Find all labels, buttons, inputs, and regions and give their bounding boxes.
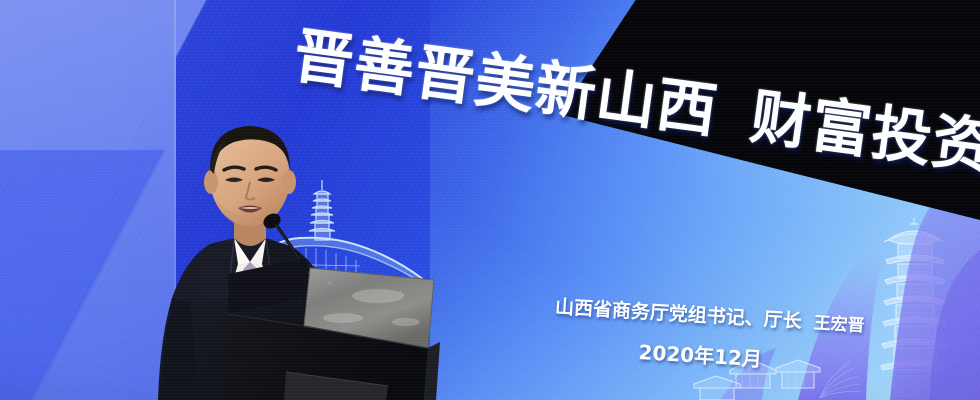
buildings-bottom-icon <box>690 352 870 400</box>
led-scanlines <box>0 0 980 400</box>
dark-ceiling-area <box>560 0 980 220</box>
subtitle-date: 2020年12月 <box>638 336 953 384</box>
subtitle-speaker-name: 王宏晋 <box>813 313 865 336</box>
screen-subtitle: 山西省商务厅党组书记、厅长王宏晋 2020年12月 <box>552 292 955 384</box>
title-part2: 财富投资新高地 <box>746 82 980 208</box>
subtitle-org-line: 山西省商务厅党组书记、厅长王宏晋 <box>554 292 955 343</box>
subtitle-org: 山西省商务厅党组书记、厅长 <box>554 296 802 333</box>
podium <box>228 252 458 400</box>
led-diagonal-texture <box>0 0 980 400</box>
pagoda-right-icon <box>858 216 978 400</box>
title-text: 晋善晋美新山西财富投资新高地 <box>290 26 980 178</box>
led-screen-background <box>0 0 980 400</box>
photo-vignette <box>0 0 980 400</box>
mountain-haze-right <box>680 100 980 400</box>
stage-photo: 晋善晋美新山西财富投资新高地 山西省商务厅党组书记、厅长王宏晋 2020年12月 <box>0 0 980 400</box>
screen-sky-gradient <box>430 0 980 400</box>
